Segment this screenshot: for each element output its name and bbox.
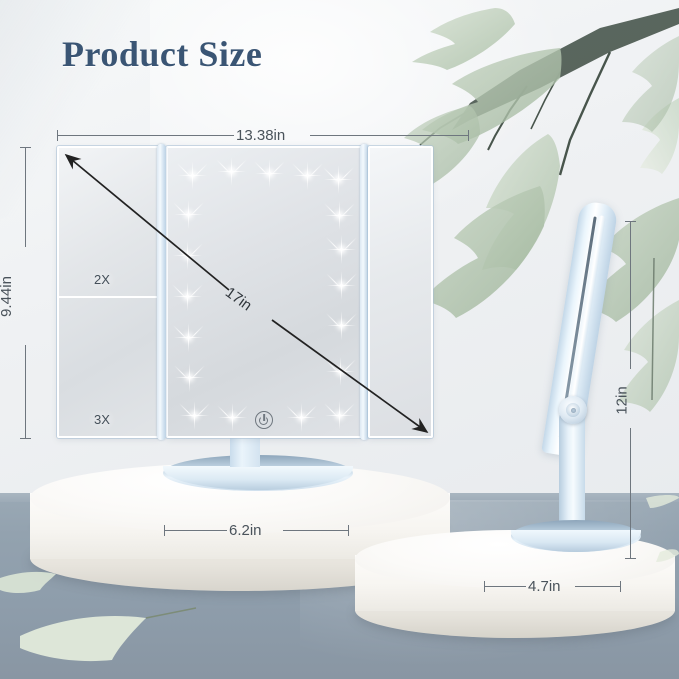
front-mirror-neck bbox=[230, 435, 260, 467]
hinge-left bbox=[157, 144, 166, 440]
left-wing-panel: 2X 3X bbox=[57, 146, 160, 438]
dimension-width-front-label: 13.38in bbox=[236, 127, 285, 144]
power-icon[interactable] bbox=[255, 411, 273, 429]
trifold-mirror: 2X 3X bbox=[57, 146, 433, 438]
side-mirror-base bbox=[511, 520, 641, 562]
magnification-badge-2x: 2X bbox=[94, 272, 110, 287]
pivot-knob-icon[interactable] bbox=[559, 396, 587, 424]
center-mirror-panel bbox=[166, 146, 362, 438]
dimension-base-side-label: 4.7in bbox=[528, 578, 561, 595]
product-size-infographic: Product Size 2X 3X bbox=[0, 0, 679, 679]
dimension-height-front-label: 9.44in bbox=[0, 276, 15, 317]
page-title: Product Size bbox=[62, 33, 262, 75]
magnification-badge-3x: 3X bbox=[94, 412, 110, 427]
wing-divider bbox=[59, 296, 158, 298]
side-profile-mirror bbox=[455, 200, 635, 570]
right-wing-panel bbox=[368, 146, 433, 438]
dimension-base-front-label: 6.2in bbox=[229, 522, 262, 539]
dimension-height-side-label: 12in bbox=[614, 386, 631, 414]
